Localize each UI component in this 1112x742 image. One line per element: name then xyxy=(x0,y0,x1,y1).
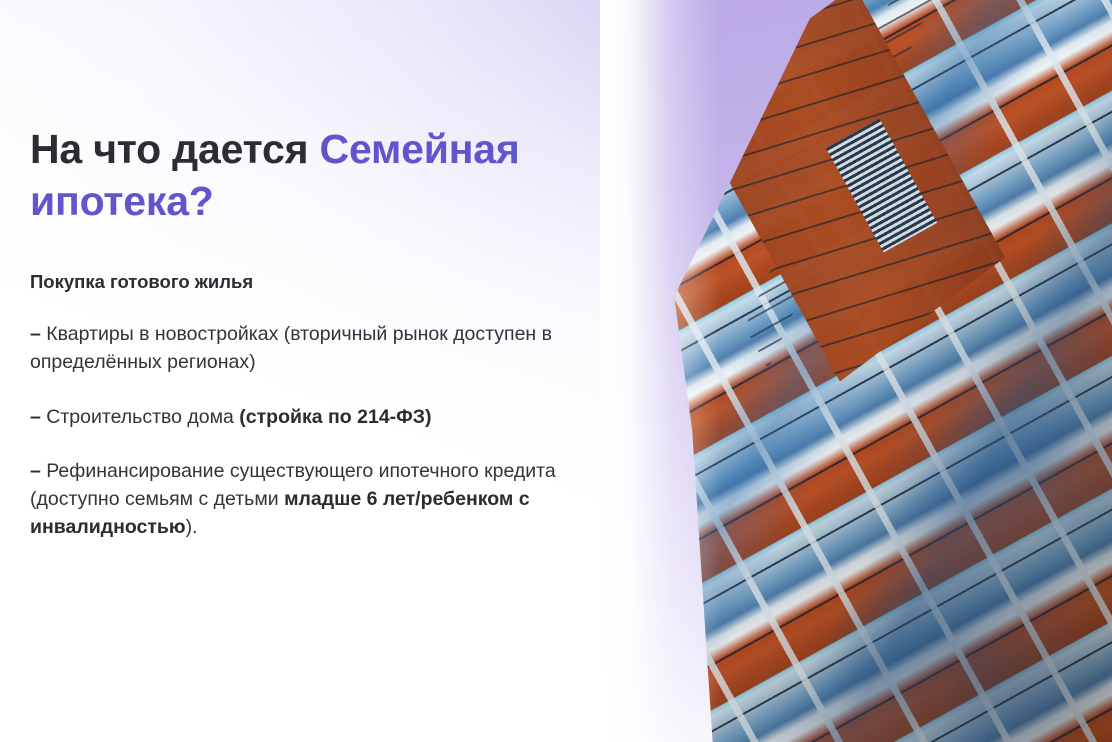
bullet-list: – Квартиры в новостройках (вторичный рын… xyxy=(30,320,610,540)
bullet-text-bold: (стройка по 214-ФЗ) xyxy=(239,406,431,428)
list-item: – Квартиры в новостройках (вторичный рын… xyxy=(30,320,600,376)
bullet-dash: – xyxy=(30,460,41,482)
bullet-dash: – xyxy=(30,406,41,428)
page-title: На что дается Семейная ипотека? xyxy=(30,0,575,227)
content-column: На что дается Семейная ипотека? Покупка … xyxy=(30,0,610,742)
subheading: Покупка готового жилья xyxy=(30,270,610,294)
bullet-text: Квартиры в новостройках (вторичный рынок… xyxy=(30,323,552,373)
list-item: – Рефинансирование существующего ипотечн… xyxy=(30,457,600,541)
headline-lead: На что дается xyxy=(30,126,320,172)
slide: На что дается Семейная ипотека? Покупка … xyxy=(0,0,1112,742)
bullet-text-tail: ). xyxy=(186,516,198,538)
bullet-text: Строительство дома xyxy=(41,406,239,428)
building-photo xyxy=(600,0,1112,742)
bullet-dash: – xyxy=(30,323,41,345)
list-item: – Строительство дома (стройка по 214-ФЗ) xyxy=(30,403,600,431)
